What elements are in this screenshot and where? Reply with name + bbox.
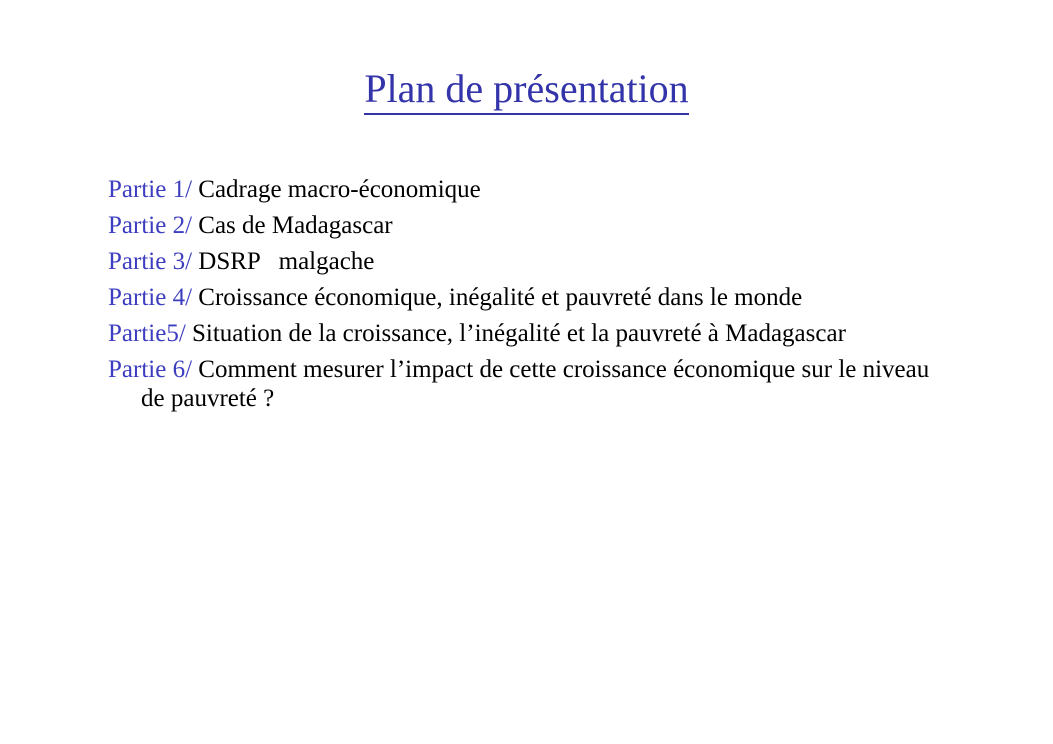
plan-item-label: Partie 2/: [108, 212, 192, 239]
plan-item-text: Cas de Madagascar: [192, 212, 393, 239]
plan-item-label: Partie 6/: [108, 356, 192, 383]
plan-item: Partie 6/ Comment mesurer l’impact de ce…: [108, 355, 953, 413]
plan-item-text: Croissance économique, inégalité et pauv…: [192, 284, 802, 311]
plan-item: Partie 3/ DSRP malgache: [108, 247, 953, 276]
plan-item-label: Partie 4/: [108, 284, 192, 311]
plan-item-text: Situation de la croissance, l’inégalité …: [186, 320, 846, 347]
plan-item-text: Cadrage macro-économique: [192, 176, 481, 203]
plan-item-text: DSRP malgache: [192, 248, 374, 275]
plan-item-label: Partie 3/: [108, 248, 192, 275]
slide-title-text: Plan de présentation: [364, 66, 688, 115]
presentation-slide: Plan de présentation Partie 1/ Cadrage m…: [0, 0, 1053, 744]
plan-item: Partie5/ Situation de la croissance, l’i…: [108, 319, 953, 348]
plan-item: Partie 2/ Cas de Madagascar: [108, 211, 953, 240]
plan-item-text: Comment mesurer l’impact de cette croiss…: [141, 356, 936, 412]
plan-list: Partie 1/ Cadrage macro-économique Parti…: [108, 175, 953, 413]
plan-item: Partie 1/ Cadrage macro-économique: [108, 175, 953, 204]
plan-item-label: Partie 1/: [108, 176, 192, 203]
slide-title: Plan de présentation: [0, 63, 1053, 115]
plan-item: Partie 4/ Croissance économique, inégali…: [108, 283, 953, 312]
plan-item-label: Partie5/: [108, 320, 186, 347]
